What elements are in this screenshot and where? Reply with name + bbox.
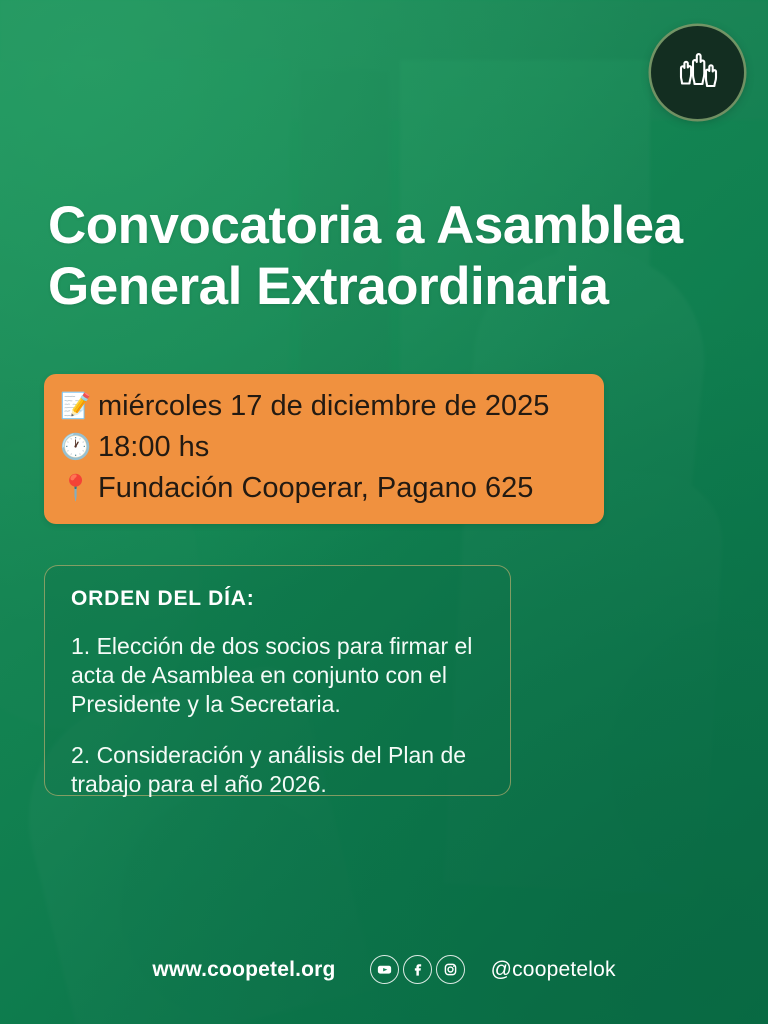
logo-badge [651,26,744,119]
footer-bar: www.coopetel.org [0,955,768,984]
youtube-icon[interactable] [370,955,399,984]
social-icons-group [370,955,465,984]
social-handle[interactable]: @coopetelok [491,958,616,982]
agenda-item-2: 2. Consideración y análisis del Plan de … [71,741,488,799]
agenda-item-1: 1. Elección de dos socios para firmar el… [71,632,488,720]
agenda-heading: ORDEN DEL DÍA: [71,587,488,611]
event-time-text: 18:00 hs [98,427,209,468]
title-line-1: Convocatoria a Asamblea [48,196,728,257]
facebook-icon[interactable] [403,955,432,984]
event-date-text: miércoles 17 de diciembre de 2025 [98,386,549,427]
event-location-text: Fundación Cooperar, Pagano 625 [98,468,533,509]
spiral-notepad-icon: 📝 [60,389,92,425]
poster-canvas: Convocatoria a Asamblea General Extraord… [0,0,768,1024]
poster-title: Convocatoria a Asamblea General Extraord… [48,196,728,318]
map-pin-icon: 📍 [60,471,92,507]
three-raised-hands-icon [670,45,726,101]
clock-icon: 🕐 [60,430,92,466]
event-details-box: 📝 miércoles 17 de diciembre de 2025 🕐 18… [44,374,604,524]
event-date-row: 📝 miércoles 17 de diciembre de 2025 [60,386,586,427]
instagram-icon[interactable] [436,955,465,984]
event-time-row: 🕐 18:00 hs [60,427,586,468]
event-location-row: 📍 Fundación Cooperar, Pagano 625 [60,468,586,509]
title-line-2: General Extraordinaria [48,257,728,318]
website-link[interactable]: www.coopetel.org [152,958,335,982]
agenda-box: ORDEN DEL DÍA: 1. Elección de dos socios… [44,565,511,796]
